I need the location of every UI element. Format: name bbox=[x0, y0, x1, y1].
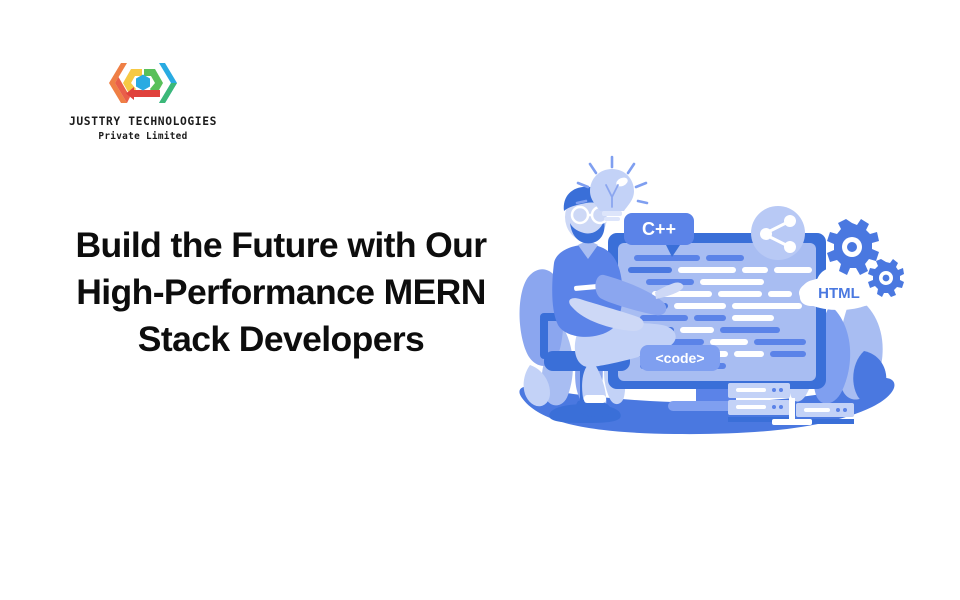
brand-subtitle: Private Limited bbox=[98, 131, 187, 142]
brand-name: JUSTTRY TECHNOLOGIES bbox=[69, 115, 217, 128]
mern-developer-illustration: C++ <code> HTML bbox=[500, 155, 920, 445]
cloud-html-label: HTML bbox=[818, 285, 860, 302]
brand-logo[interactable]: JUSTTRY TECHNOLOGIES Private Limited bbox=[62, 58, 224, 142]
hero-headline: Build the Future with Our High-Performan… bbox=[40, 222, 522, 364]
bubble-cpp-label: C++ bbox=[642, 219, 676, 239]
justtry-hexagon-logo-icon bbox=[105, 58, 181, 108]
share-network-icon bbox=[751, 206, 805, 260]
gear-large-icon bbox=[827, 219, 879, 275]
hero-banner: JUSTTRY TECHNOLOGIES Private Limited Bui… bbox=[0, 0, 960, 600]
